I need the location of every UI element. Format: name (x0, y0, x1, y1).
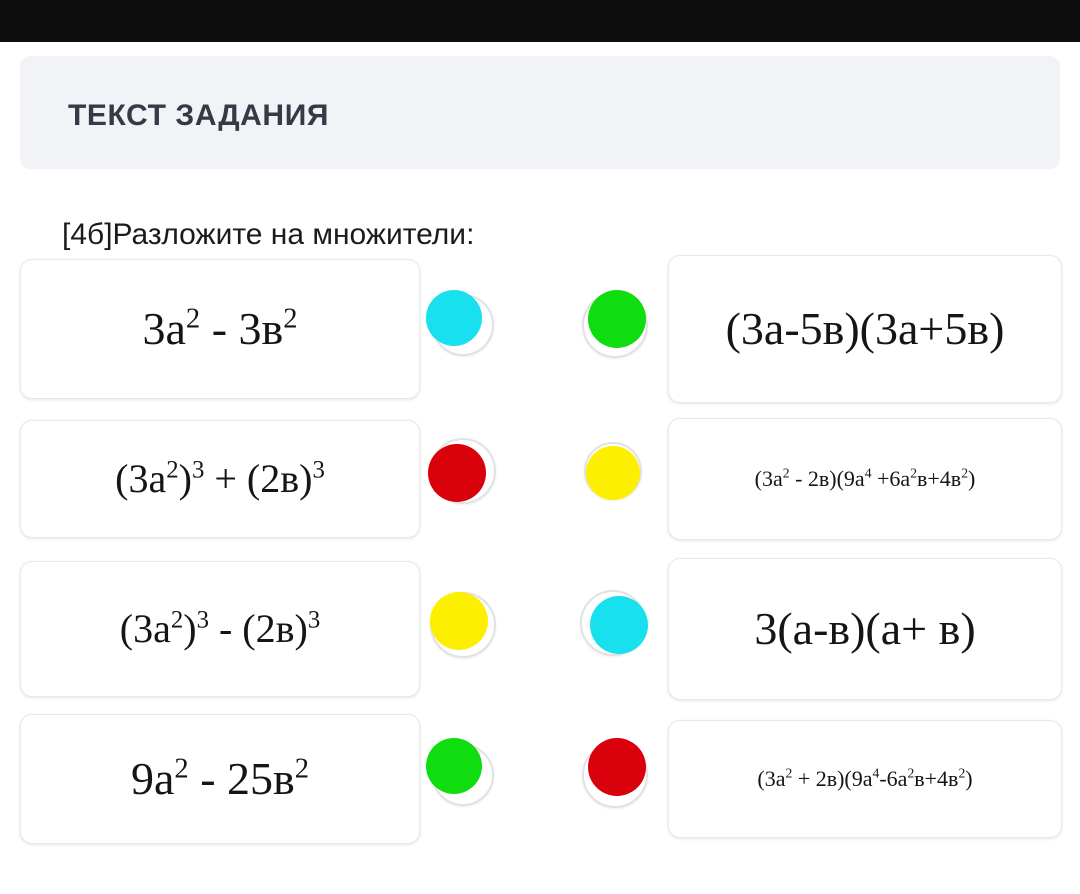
answer-text: (3а2 - 2в)(9а4 +6а2в+4в2) (745, 468, 986, 490)
page-title: ТЕКСТ ЗАДАНИЯ (68, 99, 329, 133)
answer-card[interactable]: (3а2 - 2в)(9а4 +6а2в+4в2) (668, 418, 1062, 540)
option-dot-right[interactable] (578, 404, 668, 554)
red-dot-icon[interactable] (588, 738, 646, 796)
matching-area: 3а2 - 3в2(3а-5в)(3а+5в)(3а2)3 + (2в)3(3а… (0, 254, 1080, 854)
match-row: (3а2)3 + (2в)3(3а2 - 2в)(9а4 +6а2в+4в2) (0, 404, 1080, 554)
answer-card[interactable]: (3а-5в)(3а+5в) (668, 255, 1062, 403)
option-dot-left[interactable] (424, 404, 514, 554)
option-dot-left[interactable] (424, 254, 514, 404)
option-dot-left[interactable] (424, 554, 514, 704)
match-row: 3а2 - 3в2(3а-5в)(3а+5в) (0, 254, 1080, 404)
match-row: (3а2)3 - (2в)33(а-в)(а+ в) (0, 554, 1080, 704)
answer-card[interactable]: 3(а-в)(а+ в) (668, 558, 1062, 700)
answer-card[interactable]: (3а2 + 2в)(9а4-6а2в+4в2) (668, 720, 1062, 838)
cyan-dot-icon[interactable] (590, 596, 648, 654)
option-dot-right[interactable] (578, 704, 668, 854)
expression-text: (3а2)3 - (2в)3 (110, 609, 330, 649)
red-dot-icon[interactable] (428, 444, 486, 502)
page-body: ТЕКСТ ЗАДАНИЯ [4б]Разложите на множители… (0, 42, 1080, 894)
option-dot-right[interactable] (578, 554, 668, 704)
expression-card[interactable]: (3а2)3 + (2в)3 (20, 420, 420, 538)
expression-card[interactable]: 9а2 - 25в2 (20, 714, 420, 844)
expression-text: 3а2 - 3в2 (133, 306, 308, 352)
answer-text: 3(а-в)(а+ в) (744, 606, 985, 652)
cyan-dot-icon[interactable] (426, 290, 482, 346)
task-header-band: ТЕКСТ ЗАДАНИЯ (20, 56, 1060, 169)
green-dot-icon[interactable] (426, 738, 482, 794)
option-dot-right[interactable] (578, 254, 668, 404)
expression-text: 9а2 - 25в2 (121, 756, 319, 802)
answer-text: (3а-5в)(3а+5в) (716, 306, 1015, 352)
yellow-dot-icon[interactable] (586, 446, 640, 500)
match-row: 9а2 - 25в2(3а2 + 2в)(9а4-6а2в+4в2) (0, 704, 1080, 854)
expression-card[interactable]: (3а2)3 - (2в)3 (20, 561, 420, 697)
status-bar (0, 0, 1080, 42)
expression-card[interactable]: 3а2 - 3в2 (20, 259, 420, 399)
expression-text: (3а2)3 + (2в)3 (105, 459, 335, 499)
green-dot-icon[interactable] (588, 290, 646, 348)
option-dot-left[interactable] (424, 704, 514, 854)
yellow-dot-icon[interactable] (430, 592, 488, 650)
answer-text: (3а2 + 2в)(9а4-6а2в+4в2) (747, 768, 982, 790)
instruction-text: [4б]Разложите на множители: (62, 218, 474, 252)
